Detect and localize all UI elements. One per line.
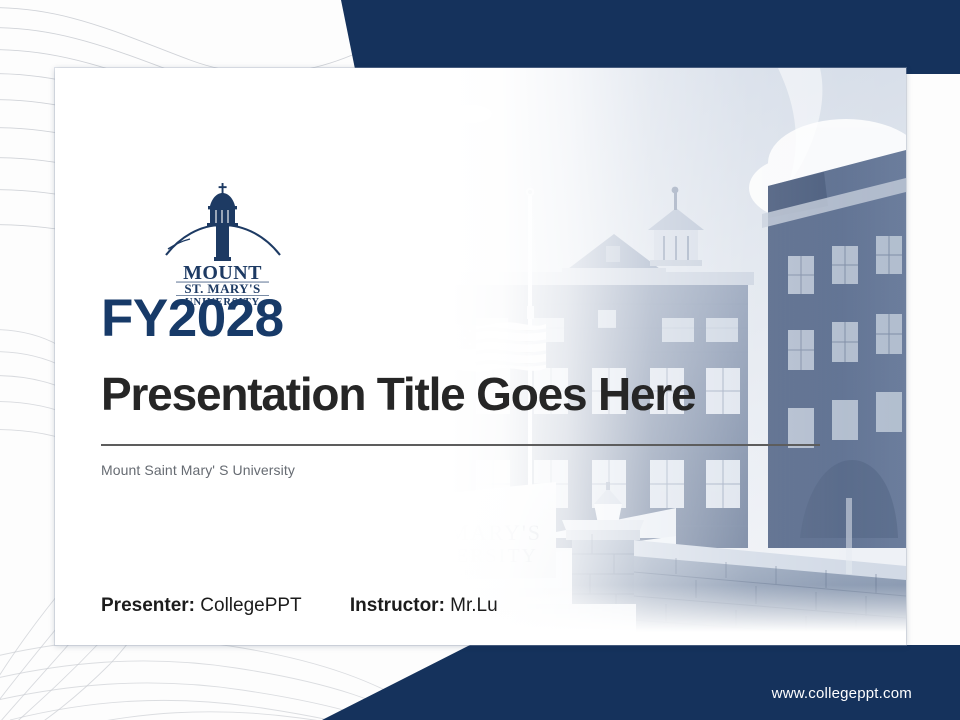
title-divider-rule	[101, 444, 820, 446]
svg-text:FOUNDED 1808: FOUNDED 1808	[408, 569, 481, 577]
svg-text:ST. MARY'S: ST. MARY'S	[406, 520, 542, 545]
credits-line: Presenter: CollegePPT Instructor: Mr.Lu	[101, 595, 498, 617]
footer-website-url: www.collegeppt.com	[772, 685, 912, 702]
presentation-slide: ST. MARY'S UNIVERSITY FOUNDED 1808	[0, 0, 960, 720]
fiscal-year-heading: FY2028	[101, 292, 284, 345]
subtitle-text: Mount Saint Mary' S University	[101, 462, 295, 478]
campus-photograph: ST. MARY'S UNIVERSITY FOUNDED 1808	[376, 68, 906, 645]
presenter-value: CollegePPT	[200, 595, 301, 616]
slide-content-card: ST. MARY'S UNIVERSITY FOUNDED 1808	[55, 68, 906, 645]
page-title: Presentation Title Goes Here	[101, 370, 695, 418]
presenter-label: Presenter:	[101, 595, 195, 616]
instructor-value: Mr.Lu	[450, 595, 498, 616]
university-logo: MOUNT ST. MARY'S UNIVERSITY	[160, 181, 285, 306]
instructor-label: Instructor:	[350, 595, 445, 616]
svg-text:UNIVERSITY: UNIVERSITY	[398, 545, 538, 567]
